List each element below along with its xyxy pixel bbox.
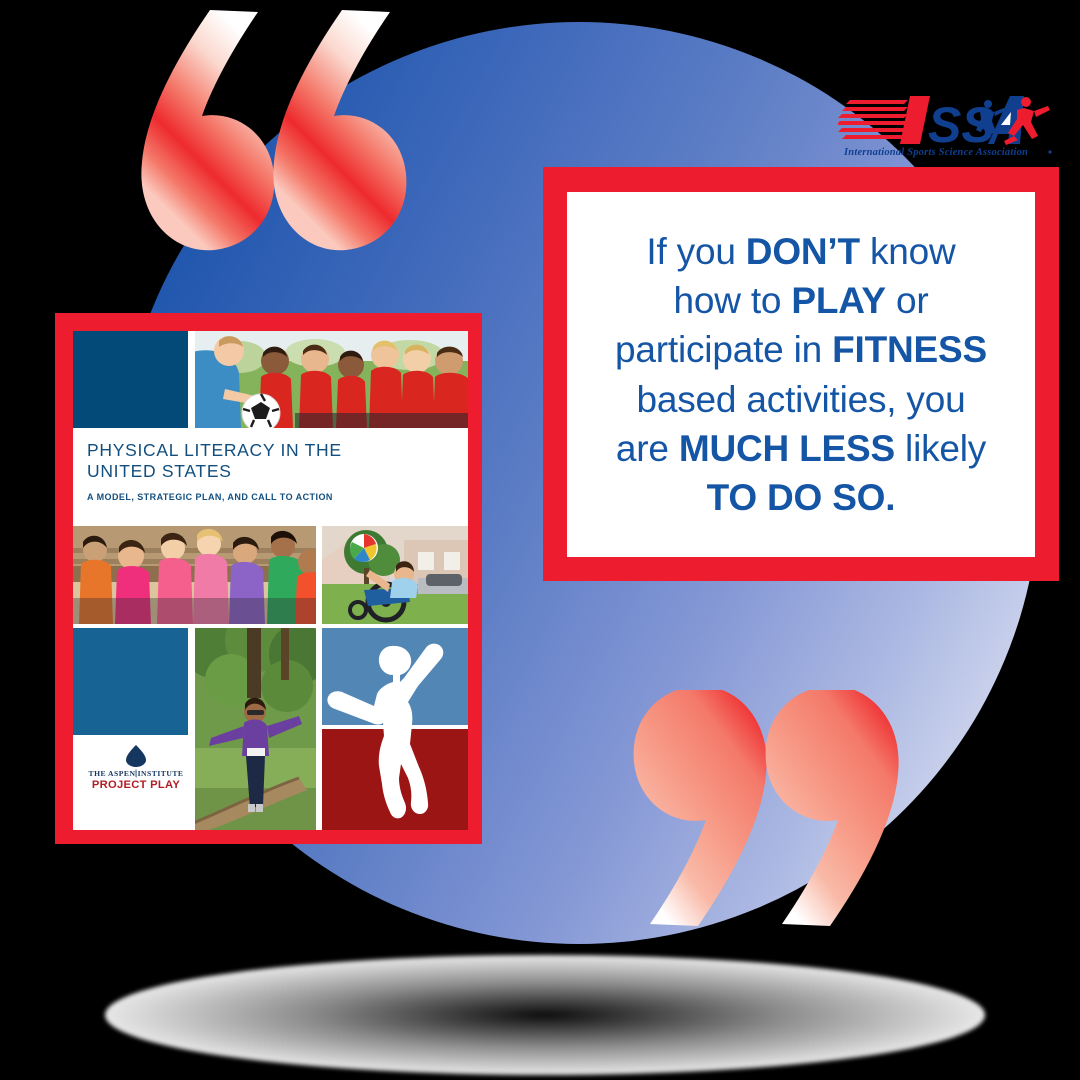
cover-title-band: PHYSICAL LITERACY IN THE UNITED STATES A… (73, 430, 468, 524)
issa-tagline: International Sports Science Association (843, 147, 1028, 158)
quote-line-1-part-c: know (860, 231, 956, 272)
project-play-wordmark: PROJECT PLAY (92, 779, 181, 791)
cover-title: PHYSICAL LITERACY IN THE UNITED STATES (87, 440, 457, 483)
cover-photo-dance-class (73, 526, 316, 624)
aspen-institute-project-play-logo: THE ASPEN|INSTITUTE PROJECT PLAY (82, 743, 190, 791)
cover-photo-soccer-team (195, 331, 468, 428)
quote-emph-play: PLAY (791, 280, 885, 321)
opening-quote-mark-icon (132, 0, 422, 292)
jumping-child-silhouette-icon (322, 628, 468, 830)
speed-lines-icon (838, 100, 908, 139)
quote-line-2-part-a: how to (674, 280, 792, 321)
cover-silhouette-panel (322, 628, 468, 830)
cover-photo-girl-on-log (195, 628, 316, 830)
cover-subtitle: A MODEL, STRATEGIC PLAN, AND CALL TO ACT… (87, 492, 457, 502)
quote-card-inner: If you DON’T know how to PLAY or partici… (567, 192, 1035, 557)
quote-line-5-part-c: likely (895, 428, 986, 469)
book-cover-inner: PHYSICAL LITERACY IN THE UNITED STATES A… (73, 331, 468, 830)
cover-title-line-2: UNITED STATES (87, 461, 232, 481)
quote-emph-fitness: FITNESS (832, 329, 987, 370)
closing-quote-mark-icon (618, 690, 918, 950)
quote-line-3-part-a: participate in (615, 329, 832, 370)
cover-blue-block (73, 628, 188, 735)
quote-emph-dont: DON’T (746, 231, 860, 272)
quote-text: If you DON’T know how to PLAY or partici… (615, 227, 987, 522)
quote-line-4: based activities, you (637, 379, 966, 420)
book-cover: PHYSICAL LITERACY IN THE UNITED STATES A… (55, 313, 482, 844)
cover-photo-wheelchair-beachball (322, 526, 468, 624)
quote-line-6: TO DO SO. (707, 477, 896, 518)
quote-emph-much-less: MUCH LESS (679, 428, 895, 469)
quote-card: If you DON’T know how to PLAY or partici… (543, 167, 1059, 581)
cover-title-line-1: PHYSICAL LITERACY IN THE (87, 440, 342, 460)
quote-line-5-part-a: are (616, 428, 679, 469)
poster-canvas: SS International Sports Science Associat… (0, 0, 1080, 1080)
quote-line-2-part-c: or (886, 280, 929, 321)
ground-shadow (105, 955, 985, 1075)
issa-logo: SS International Sports Science Associat… (838, 88, 1056, 160)
cover-navy-block (73, 331, 188, 428)
quote-line-1-part-a: If you (646, 231, 745, 272)
